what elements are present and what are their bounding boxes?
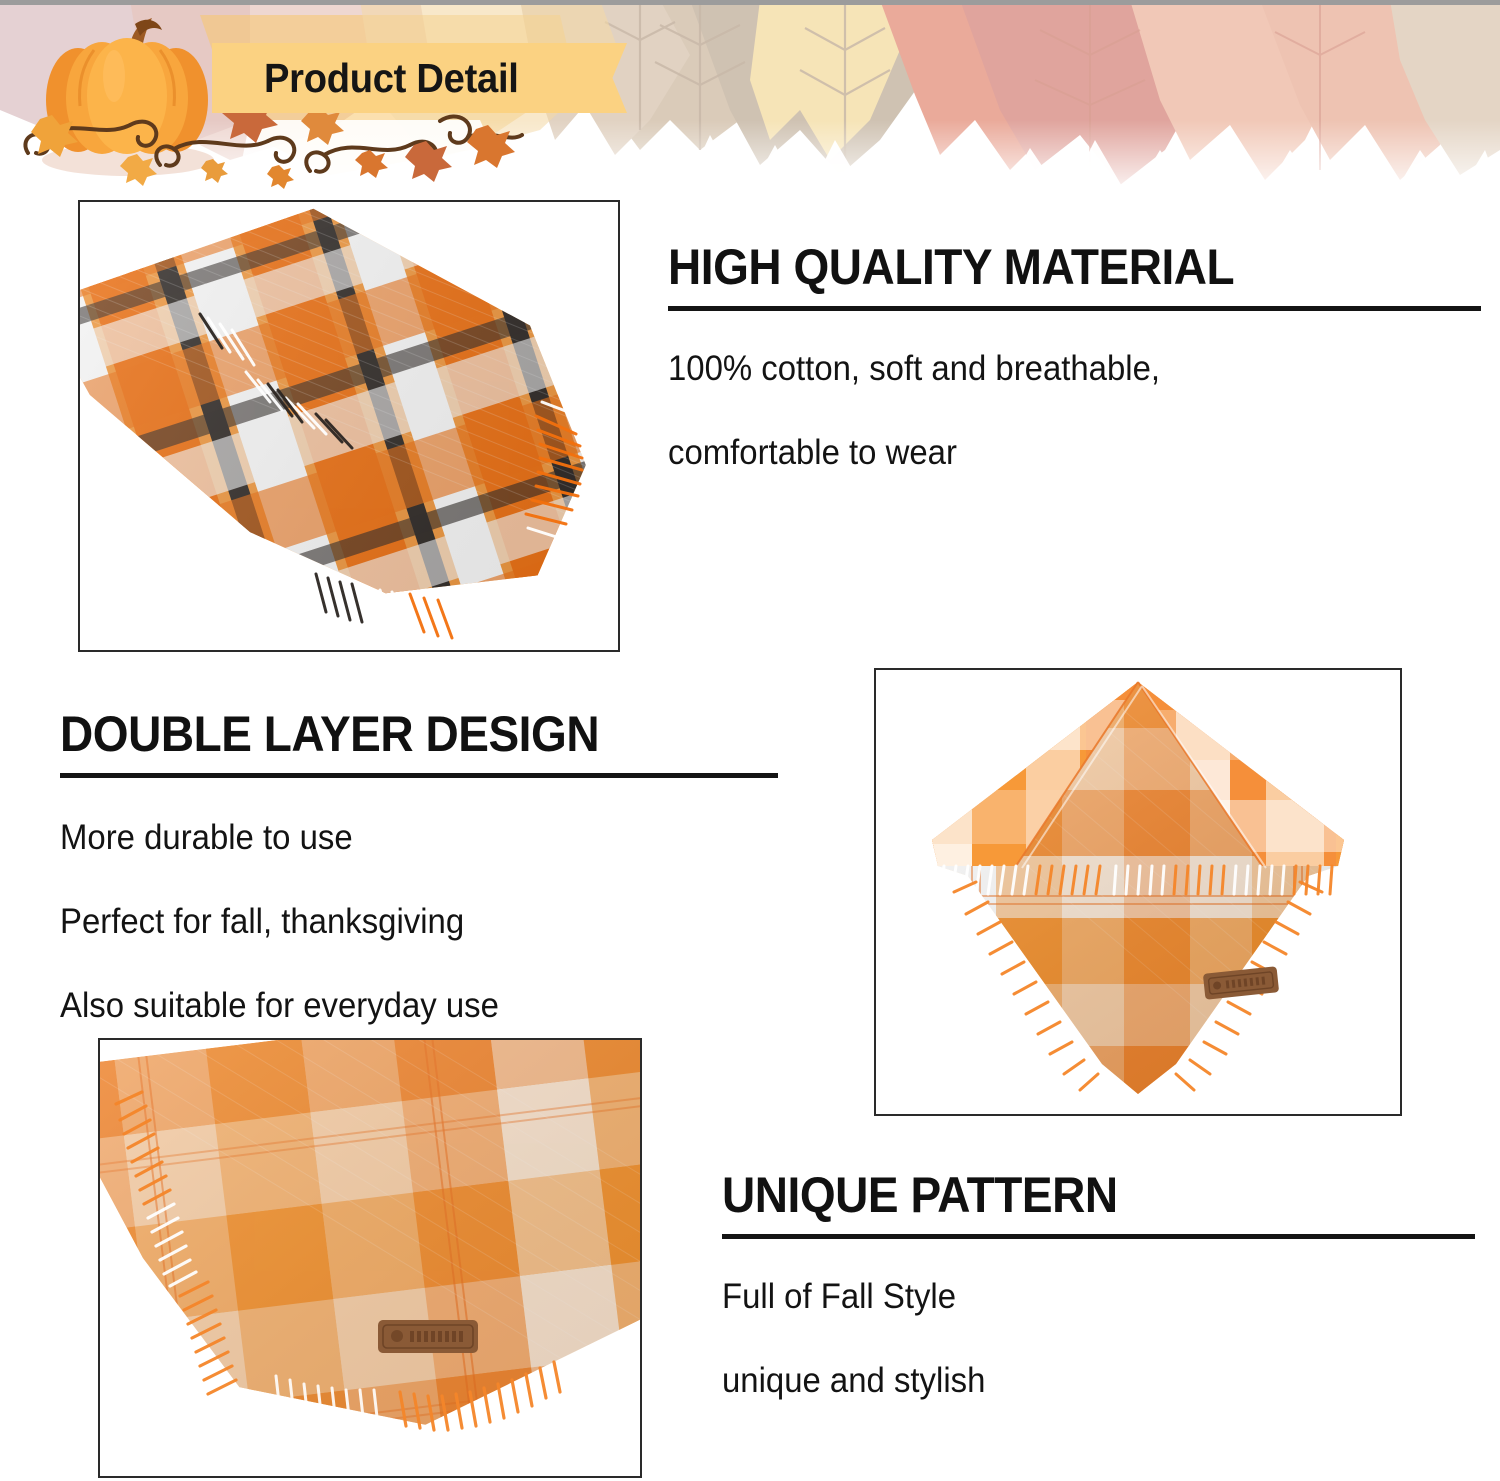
photo-plaid-bandana-folded-triangle [874,668,1402,1116]
section-heading: DOUBLE LAYER DESIGN [60,705,721,763]
section-unique-pattern: UNIQUE PATTERN Full of Fall Style unique… [722,1166,1475,1403]
heading-rule [668,306,1481,311]
heading-rule [60,773,778,778]
section-body-line: Perfect for fall, thanksgiving [60,900,735,944]
section-heading: HIGH QUALITY MATERIAL [668,238,1416,296]
section-high-quality-material: HIGH QUALITY MATERIAL 100% cotton, soft … [668,238,1481,475]
header-top-rule [0,0,1500,5]
photo-plaid-bandana-fringe-closeup [78,200,620,652]
section-body-line: More durable to use [60,816,735,860]
product-image-3 [876,670,1400,1114]
product-image-2 [100,1040,640,1476]
section-double-layer-design: DOUBLE LAYER DESIGN More durable to use … [60,705,778,1028]
section-body-line: unique and stylish [722,1359,1430,1403]
product-image-1 [80,202,618,650]
section-body-line: 100% cotton, soft and breathable, [668,347,1432,391]
heading-rule [722,1234,1475,1239]
leather-brand-label [378,1320,478,1353]
page-title: Product Detail [264,47,571,109]
section-body-line: Full of Fall Style [722,1275,1430,1319]
header-banner: Product Detail [0,0,1500,200]
section-body-line: comfortable to wear [668,431,1432,475]
section-heading: UNIQUE PATTERN [722,1166,1415,1224]
section-body-line: Also suitable for everyday use [60,984,735,1028]
photo-plaid-bandana-flat-corner [98,1038,642,1478]
